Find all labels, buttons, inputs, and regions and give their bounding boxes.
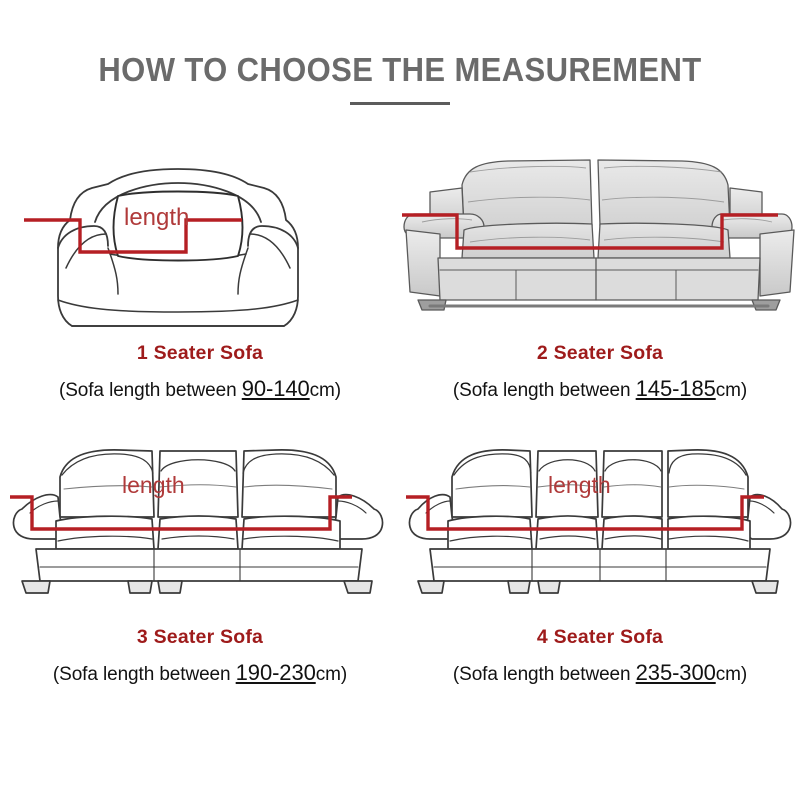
sofa-card-3-seater[interactable]: length 3 Seater Sofa (Sofa length betwee… xyxy=(0,420,400,710)
sofa-card-title: 1 Seater Sofa xyxy=(137,342,263,365)
sofa-card-range: (Sofa length between 90-140cm) xyxy=(59,376,341,402)
range-prefix: (Sofa length between xyxy=(453,380,636,401)
page-header: HOW TO CHOOSE THE MEASUREMENT xyxy=(0,0,800,105)
range-suffix: cm) xyxy=(316,664,347,685)
sofa-illustration-2-seater xyxy=(400,130,800,340)
range-value: 90-140 xyxy=(242,376,310,401)
range-prefix: (Sofa length between xyxy=(453,664,636,685)
sofa-illustration-4-seater: length xyxy=(400,420,800,620)
range-value: 190-230 xyxy=(236,660,316,685)
sofa-card-4-seater[interactable]: length 4 Seater Sofa (Sofa length betwee… xyxy=(400,420,800,710)
sofa-card-1-seater[interactable]: length 1 Seater Sofa (Sofa length betwee… xyxy=(0,130,400,420)
length-label-1-seater: length xyxy=(124,204,189,231)
sofa-card-range: (Sofa length between 145-185cm) xyxy=(453,376,747,402)
sofa-card-2-seater[interactable]: 2 Seater Sofa (Sofa length between 145-1… xyxy=(400,130,800,420)
length-label-4-seater: length xyxy=(548,472,611,498)
sofa-size-grid: length 1 Seater Sofa (Sofa length betwee… xyxy=(0,130,800,790)
sofa-card-range: (Sofa length between 190-230cm) xyxy=(53,660,347,686)
sofa-illustration-1-seater: length xyxy=(0,130,400,340)
length-label-3-seater: length xyxy=(122,472,185,498)
title-divider xyxy=(350,102,450,105)
sofa-card-range: (Sofa length between 235-300cm) xyxy=(453,660,747,686)
sofa-card-title: 2 Seater Sofa xyxy=(537,342,663,365)
measurement-guide-page: HOW TO CHOOSE THE MEASUREMENT xyxy=(0,0,800,800)
page-title: HOW TO CHOOSE THE MEASUREMENT xyxy=(24,52,776,88)
range-suffix: cm) xyxy=(716,664,747,685)
range-value: 235-300 xyxy=(636,660,716,685)
range-prefix: (Sofa length between xyxy=(59,380,242,401)
range-suffix: cm) xyxy=(716,380,747,401)
range-prefix: (Sofa length between xyxy=(53,664,236,685)
range-value: 145-185 xyxy=(636,376,716,401)
sofa-illustration-3-seater: length xyxy=(0,420,400,620)
range-suffix: cm) xyxy=(310,380,341,401)
